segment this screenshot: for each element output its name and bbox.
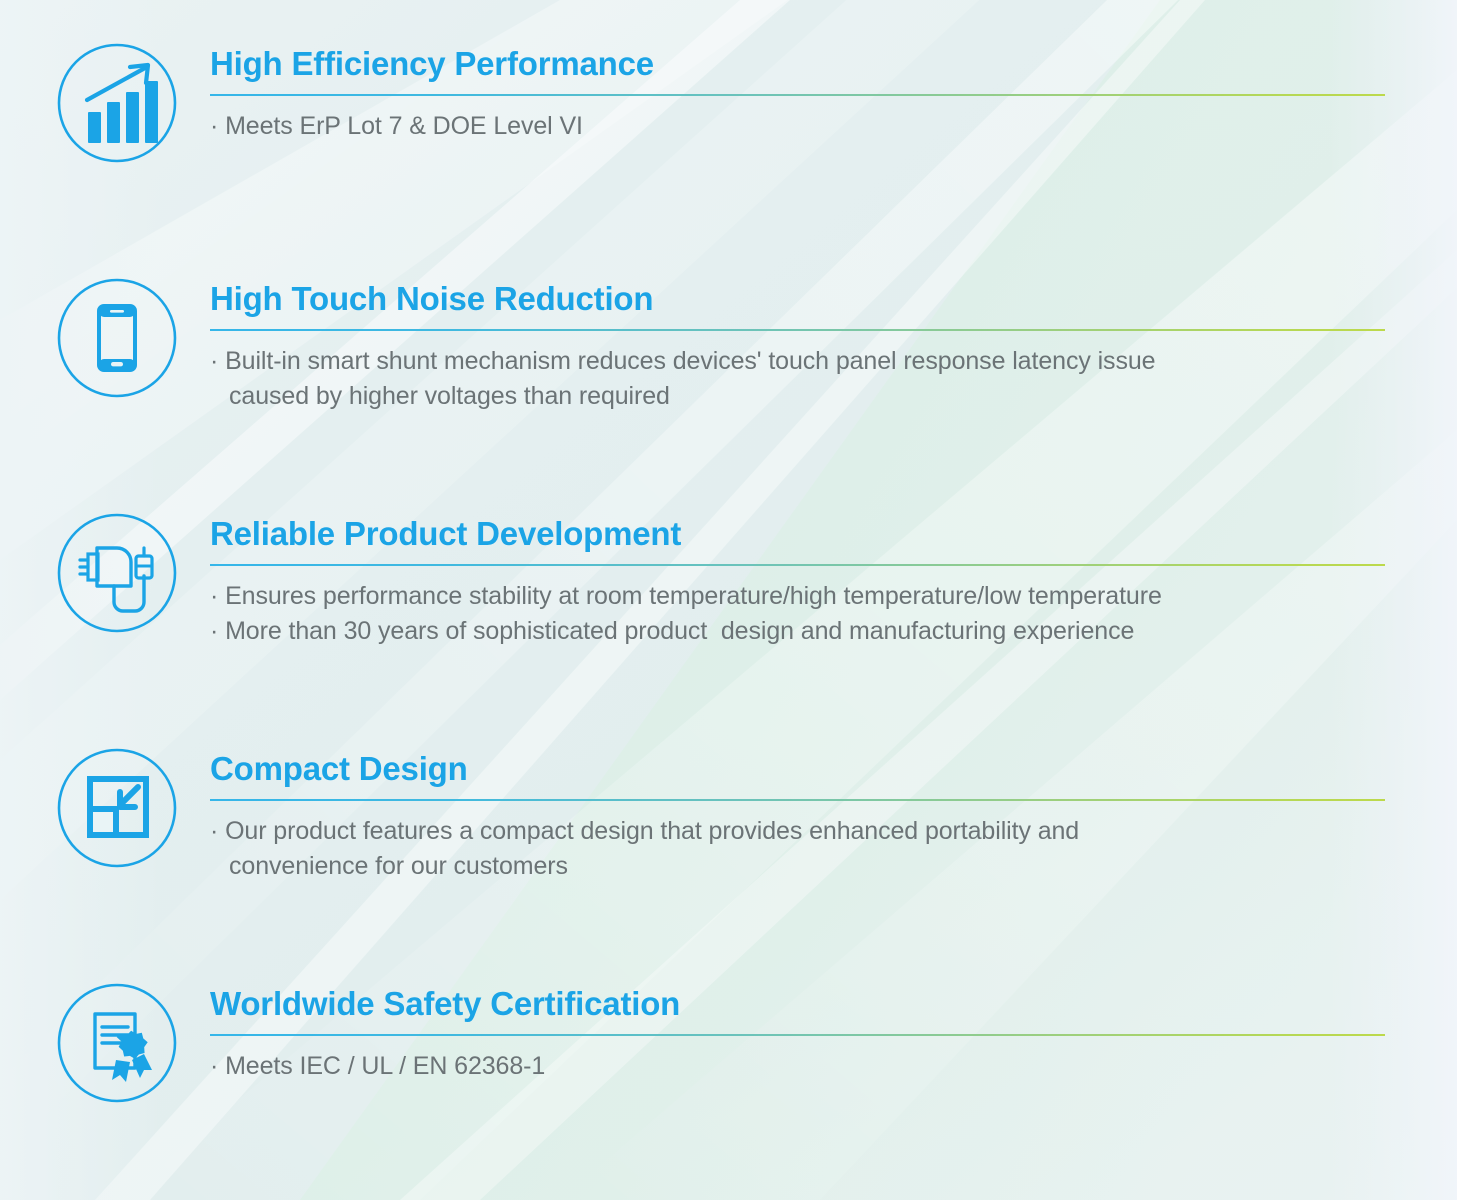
feature-description: · Our product features a compact design …: [210, 814, 1385, 885]
certificate-seal-icon: [56, 982, 178, 1104]
feature-item-high-touch-noise-reduction: High Touch Noise Reduction · Built-in sm…: [0, 277, 1457, 415]
feature-item-reliable-product-development: Reliable Product Development · Ensures p…: [0, 512, 1457, 650]
feature-description: · Ensures performance stability at room …: [210, 579, 1385, 650]
feature-text-block: Reliable Product Development · Ensures p…: [210, 512, 1385, 650]
feature-description: · Built-in smart shunt mechanism reduces…: [210, 344, 1385, 415]
feature-description-line: · Our product features a compact design …: [210, 814, 1385, 850]
feature-description-line: caused by higher voltages than required: [210, 379, 1385, 415]
feature-description-line: convenience for our customers: [210, 849, 1385, 885]
feature-divider: [210, 94, 1385, 96]
feature-description: · Meets ErP Lot 7 & DOE Level VI: [210, 109, 1385, 145]
feature-title: High Touch Noise Reduction: [210, 281, 1385, 318]
power-adapter-icon: [56, 512, 178, 634]
feature-divider: [210, 1034, 1385, 1036]
smartphone-icon: [56, 277, 178, 399]
feature-description-line: · Built-in smart shunt mechanism reduces…: [210, 344, 1385, 380]
feature-divider: [210, 799, 1385, 801]
bar-chart-growth-icon: [56, 42, 178, 164]
feature-title: Compact Design: [210, 751, 1385, 788]
feature-text-block: High Efficiency Performance · Meets ErP …: [210, 42, 1385, 144]
feature-text-block: High Touch Noise Reduction · Built-in sm…: [210, 277, 1385, 415]
feature-description: · Meets IEC / UL / EN 62368-1: [210, 1049, 1385, 1085]
feature-item-worldwide-safety-certification: Worldwide Safety Certification · Meets I…: [0, 982, 1457, 1104]
feature-description-line: · Meets IEC / UL / EN 62368-1: [210, 1049, 1385, 1085]
feature-item-compact-design: Compact Design · Our product features a …: [0, 747, 1457, 885]
feature-description-line: · Ensures performance stability at room …: [210, 579, 1385, 615]
feature-item-high-efficiency-performance: High Efficiency Performance · Meets ErP …: [0, 42, 1457, 164]
feature-title: Reliable Product Development: [210, 516, 1385, 553]
feature-divider: [210, 329, 1385, 331]
feature-title: High Efficiency Performance: [210, 46, 1385, 83]
feature-description-line: · More than 30 years of sophisticated pr…: [210, 614, 1385, 650]
compact-resize-icon: [56, 747, 178, 869]
feature-title: Worldwide Safety Certification: [210, 986, 1385, 1023]
feature-list: High Efficiency Performance · Meets ErP …: [0, 0, 1457, 1200]
feature-description-line: · Meets ErP Lot 7 & DOE Level VI: [210, 109, 1385, 145]
feature-text-block: Compact Design · Our product features a …: [210, 747, 1385, 885]
feature-divider: [210, 564, 1385, 566]
feature-text-block: Worldwide Safety Certification · Meets I…: [210, 982, 1385, 1084]
